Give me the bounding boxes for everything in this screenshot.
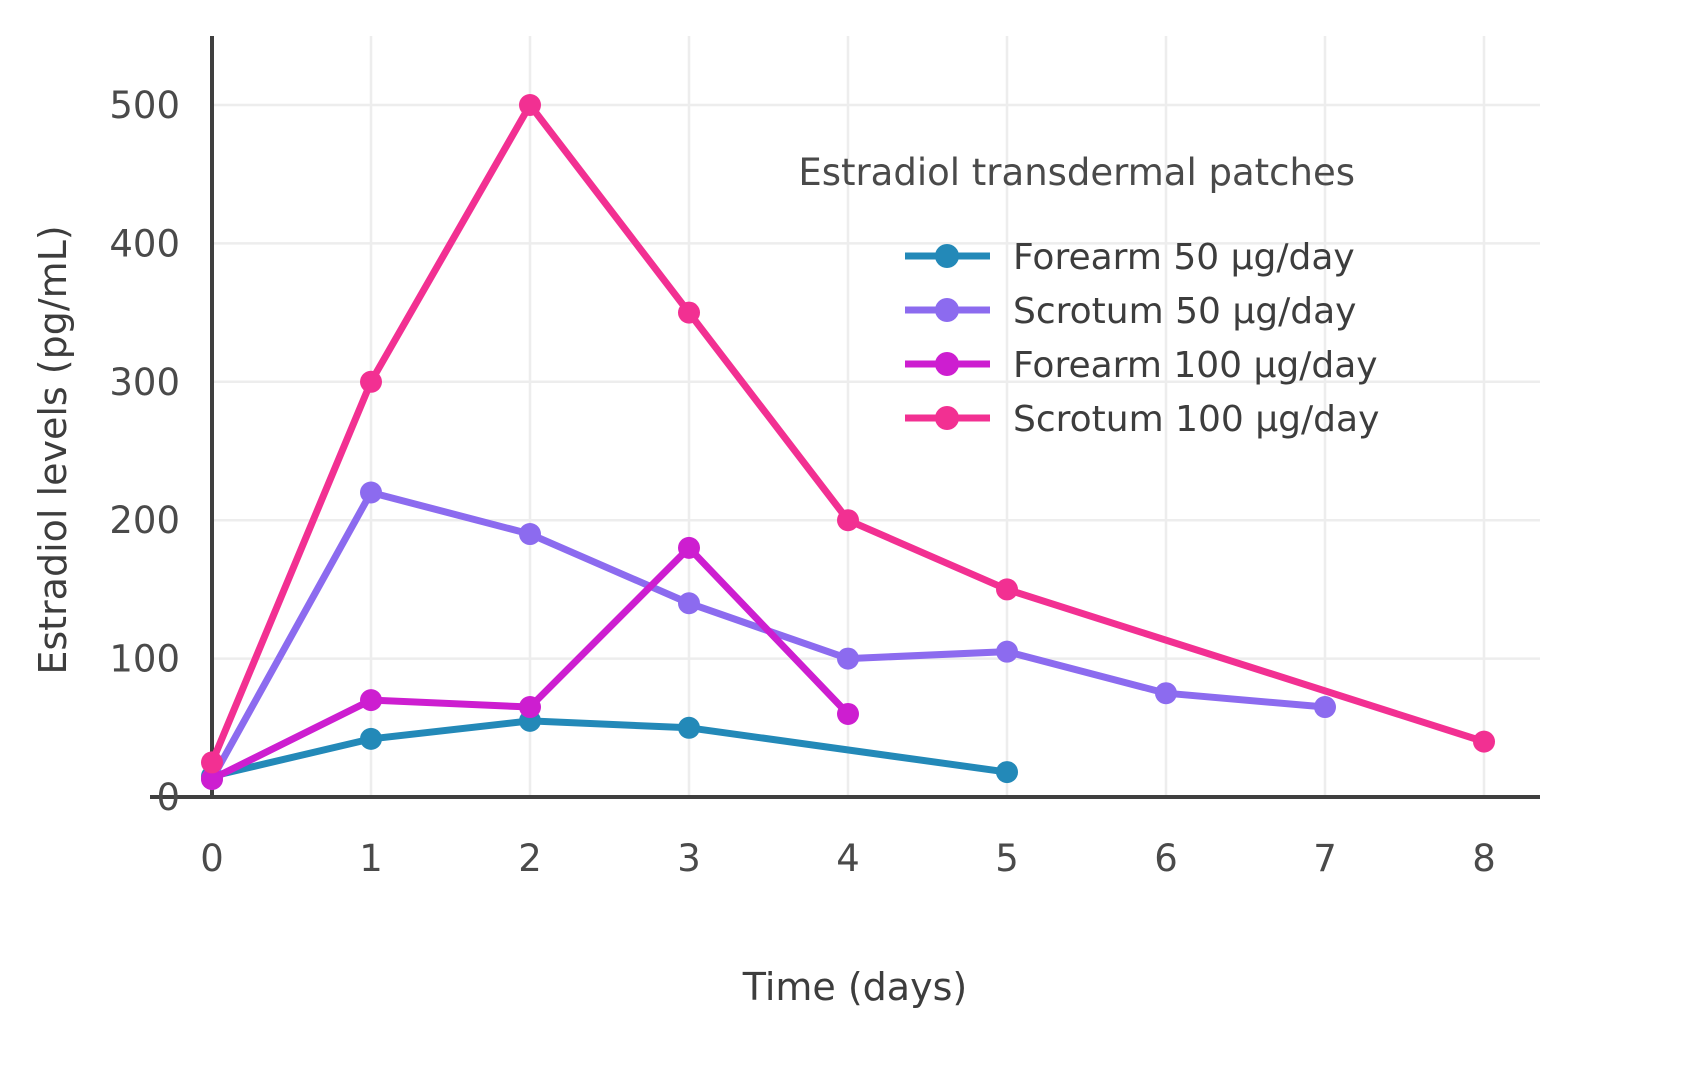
- legend-label-2[interactable]: Forearm 100 µg/day: [1013, 345, 1378, 386]
- data-point[interactable]: [837, 509, 859, 531]
- legend-label-0[interactable]: Forearm 50 µg/day: [1013, 237, 1355, 278]
- data-point[interactable]: [360, 689, 382, 711]
- legend-title: Estradiol transdermal patches: [798, 151, 1355, 194]
- x-axis-title: Time (days): [742, 965, 967, 1009]
- x-tick-label: 3: [677, 837, 701, 880]
- data-point[interactable]: [678, 592, 700, 614]
- data-point[interactable]: [1473, 731, 1495, 753]
- data-point[interactable]: [837, 703, 859, 725]
- chart-canvas: 0100200300400500012345678Estradiol level…: [0, 0, 1681, 1090]
- y-tick-label: 400: [109, 222, 180, 265]
- y-tick-label: 500: [109, 84, 180, 127]
- y-tick-label: 200: [109, 499, 180, 542]
- legend-marker-1[interactable]: [935, 298, 959, 322]
- x-tick-label: 1: [359, 837, 383, 880]
- y-axis-title: Estradiol levels (pg/mL): [31, 225, 75, 674]
- y-tick-label: 100: [109, 638, 180, 681]
- data-point[interactable]: [519, 696, 541, 718]
- x-tick-label: 5: [995, 837, 1019, 880]
- y-tick-label: 0: [156, 776, 180, 819]
- y-tick-label: 300: [109, 361, 180, 404]
- series-line-0: [212, 721, 1007, 776]
- data-point[interactable]: [519, 523, 541, 545]
- x-tick-label: 2: [518, 837, 542, 880]
- data-point[interactable]: [201, 751, 223, 773]
- legend-marker-0[interactable]: [935, 244, 959, 268]
- x-tick-label: 4: [836, 837, 860, 880]
- x-tick-label: 8: [1472, 837, 1496, 880]
- data-point[interactable]: [1314, 696, 1336, 718]
- legend-marker-3[interactable]: [935, 406, 959, 430]
- data-point[interactable]: [996, 641, 1018, 663]
- data-point[interactable]: [360, 371, 382, 393]
- x-tick-label: 7: [1313, 837, 1337, 880]
- line-chart: 0100200300400500012345678Estradiol level…: [0, 0, 1681, 1090]
- legend-label-1[interactable]: Scrotum 50 µg/day: [1013, 291, 1356, 332]
- data-point[interactable]: [360, 482, 382, 504]
- data-point[interactable]: [678, 302, 700, 324]
- x-tick-label: 0: [200, 837, 224, 880]
- data-point[interactable]: [996, 761, 1018, 783]
- data-point[interactable]: [996, 578, 1018, 600]
- data-point[interactable]: [360, 728, 382, 750]
- x-tick-label: 6: [1154, 837, 1178, 880]
- legend-marker-2[interactable]: [935, 352, 959, 376]
- data-point[interactable]: [837, 648, 859, 670]
- data-point[interactable]: [678, 717, 700, 739]
- data-point[interactable]: [678, 537, 700, 559]
- data-point[interactable]: [1155, 682, 1177, 704]
- data-point[interactable]: [519, 94, 541, 116]
- legend-label-3[interactable]: Scrotum 100 µg/day: [1013, 399, 1379, 440]
